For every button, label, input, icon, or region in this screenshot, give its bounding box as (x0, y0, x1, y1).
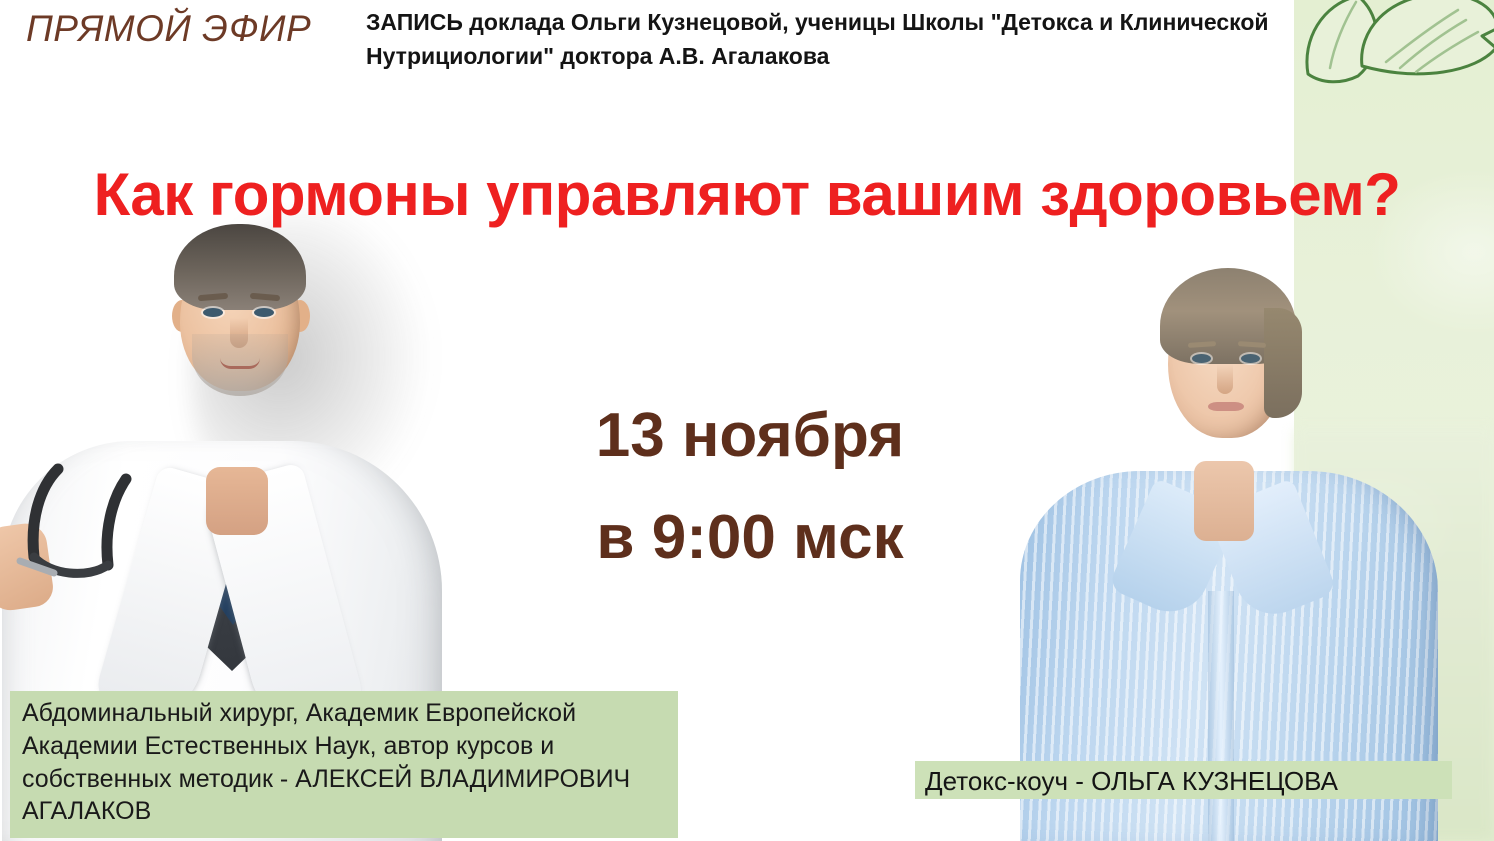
mouth (220, 358, 260, 369)
eye-right (1241, 354, 1260, 363)
nose (1217, 364, 1233, 394)
eye-left (203, 308, 223, 317)
header-note: ЗАПИСЬ доклада Ольги Кузнецовой, ученицы… (366, 6, 1326, 73)
event-datetime: 13 ноября в 9:00 мск (430, 385, 1070, 590)
promo-banner: ПРЯМОЙ ЭФИР ЗАПИСЬ доклада Ольги Кузнецо… (0, 0, 1494, 841)
neck (1194, 461, 1254, 541)
eye-left (1192, 354, 1211, 363)
doctor-caption: Абдоминальный хирург, Академик Европейск… (10, 691, 678, 838)
eyeglasses-icon (0, 461, 176, 591)
mouth (1208, 402, 1244, 411)
shirt-placket (1208, 591, 1234, 841)
hair-side (1264, 308, 1302, 418)
neck (206, 467, 268, 535)
live-badge: ПРЯМОЙ ЭФИР (26, 8, 311, 50)
page-title: Как гормоны управляют вашим здоровьем? (80, 152, 1414, 237)
leaves-icon (1300, 0, 1494, 98)
coach-caption: Детокс-коуч - ОЛЬГА КУЗНЕЦОВА (915, 761, 1452, 799)
event-date: 13 ноября (430, 385, 1070, 487)
coach-photo (1012, 250, 1442, 841)
eye-right (254, 308, 274, 317)
event-time: в 9:00 мск (430, 487, 1070, 589)
